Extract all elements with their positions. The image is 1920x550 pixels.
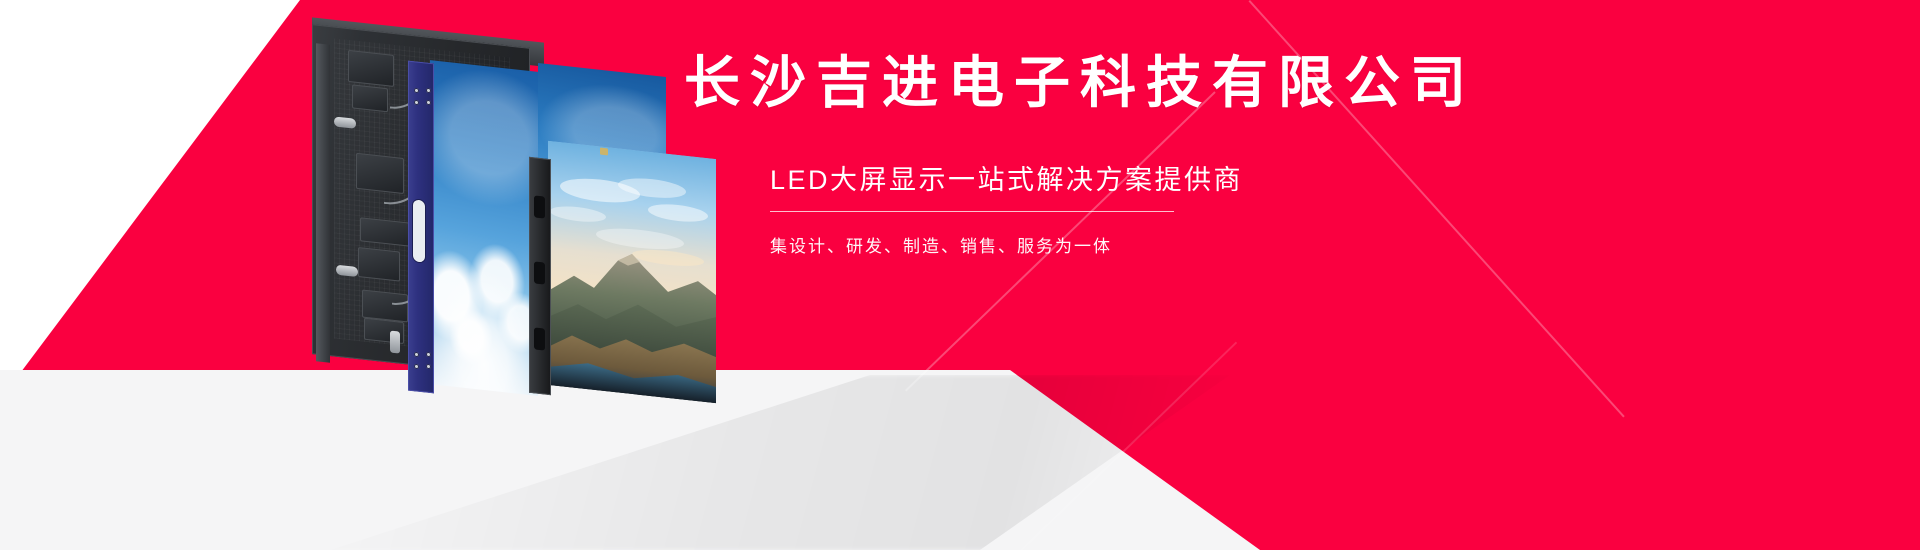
- subtitle-block: LED大屏显示一站式解决方案提供商: [684, 163, 1824, 212]
- banner-tagline: 集设计、研发、制造、销售、服务为一体: [684, 232, 1824, 257]
- company-title: 长沙吉进电子科技有限公司: [684, 52, 1824, 115]
- cabinet-connector: [336, 265, 358, 277]
- hero-banner: 长沙吉进电子科技有限公司 LED大屏显示一站式解决方案提供商 集设计、研发、制造…: [0, 0, 1920, 550]
- panel-screw-icon: [414, 100, 419, 106]
- cabinet-left-rail: [316, 43, 330, 363]
- led-panel-handle: [413, 199, 425, 262]
- cabinet-bolt: [390, 331, 400, 354]
- panel-vent: [534, 195, 545, 218]
- panel-vent: [534, 261, 545, 284]
- panel-screw-icon: [426, 352, 431, 358]
- subtitle-divider: [770, 211, 1174, 212]
- banner-copy: 长沙吉进电子科技有限公司 LED大屏显示一站式解决方案提供商 集设计、研发、制造…: [684, 52, 1824, 274]
- panel-screw-icon: [414, 352, 419, 358]
- panel-screw-icon: [426, 100, 431, 106]
- panel-screw-icon: [414, 364, 419, 370]
- cabinet-connector: [334, 116, 356, 128]
- banner-subtitle: LED大屏显示一站式解决方案提供商: [770, 163, 1824, 198]
- panel-screw-icon: [426, 88, 431, 94]
- cabinet-module: [352, 84, 388, 112]
- panel-screw-icon: [414, 88, 419, 94]
- panel-screw-icon: [426, 364, 431, 370]
- panel-vent: [534, 327, 545, 350]
- cabinet-module: [348, 50, 394, 87]
- panel-top-clip: [600, 148, 608, 156]
- led-panel-blue-frame-screen: [430, 60, 538, 396]
- product-image-group: [0, 0, 800, 550]
- cabinet-module: [360, 217, 414, 247]
